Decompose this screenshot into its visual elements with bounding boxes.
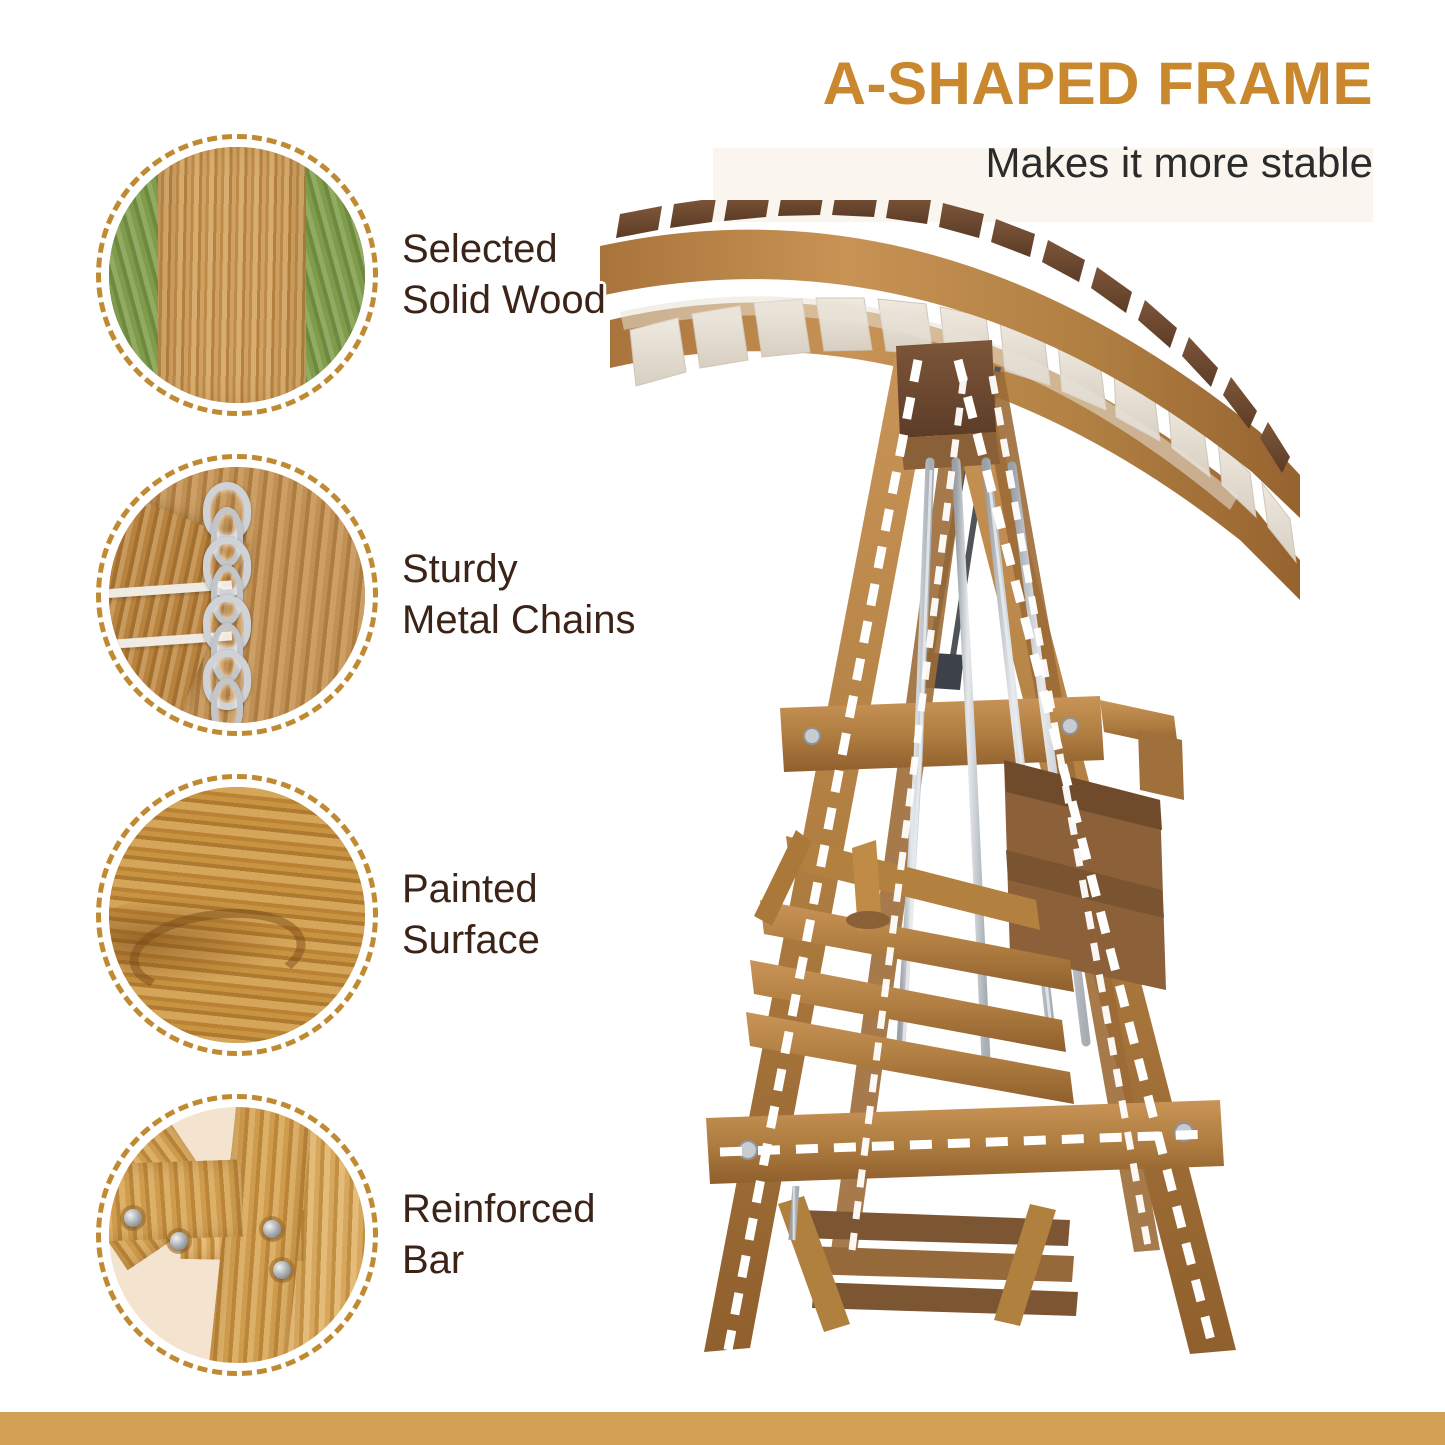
feature-thumb-wrap — [96, 134, 378, 416]
footer-accent-bar — [0, 1412, 1445, 1445]
screw-icon — [263, 1220, 281, 1238]
grass-right — [304, 147, 365, 403]
screw-icon — [273, 1261, 291, 1279]
feature-callout-reinforced-bar: Reinforced Bar — [96, 1094, 595, 1376]
wood-post — [158, 147, 307, 403]
a-frame-apex-block — [896, 340, 996, 438]
wood-post-on-grass-texture — [109, 147, 365, 403]
footrest-slats — [778, 1196, 1078, 1332]
bolt — [1062, 718, 1078, 734]
painted-wood-grain-texture — [109, 787, 365, 1043]
page-subtitle: Makes it more stable — [986, 138, 1373, 188]
feature-label-reinforced-bar: Reinforced Bar — [402, 1184, 595, 1286]
grass-left — [109, 147, 160, 403]
lower-chain — [792, 1186, 796, 1240]
feature-label-painted-surface: Painted Surface — [402, 864, 540, 966]
feature-photo-sturdy-metal-chains — [109, 467, 365, 723]
feature-callout-selected-solid-wood: Selected Solid Wood — [96, 134, 606, 416]
bolt — [804, 728, 820, 744]
feature-thumb-wrap — [96, 774, 378, 1056]
feature-photo-reinforced-bar — [109, 1107, 365, 1363]
chain-links — [200, 472, 254, 723]
feature-label-selected-solid-wood: Selected Solid Wood — [402, 224, 606, 326]
product-svg — [600, 200, 1445, 1400]
seat-post-hole — [846, 911, 890, 929]
infographic-canvas: A-SHAPED FRAME Makes it more stable — [0, 0, 1445, 1445]
feature-callout-painted-surface: Painted Surface — [96, 774, 540, 1056]
feature-thumb-wrap — [96, 1094, 378, 1376]
metal-chain-on-wood-texture — [109, 467, 365, 723]
reinforced-joint-texture — [109, 1107, 365, 1363]
feature-thumb-wrap — [96, 454, 378, 736]
feature-label-sturdy-metal-chains: Sturdy Metal Chains — [402, 544, 635, 646]
swing-arm-support — [1138, 730, 1184, 800]
page-title: A-SHAPED FRAME — [823, 52, 1373, 115]
feature-callout-sturdy-metal-chains: Sturdy Metal Chains — [96, 454, 635, 736]
feature-photo-painted-surface — [109, 787, 365, 1043]
wood-beam — [109, 1160, 243, 1244]
product-illustration — [600, 200, 1445, 1400]
feature-photo-selected-solid-wood — [109, 147, 365, 403]
